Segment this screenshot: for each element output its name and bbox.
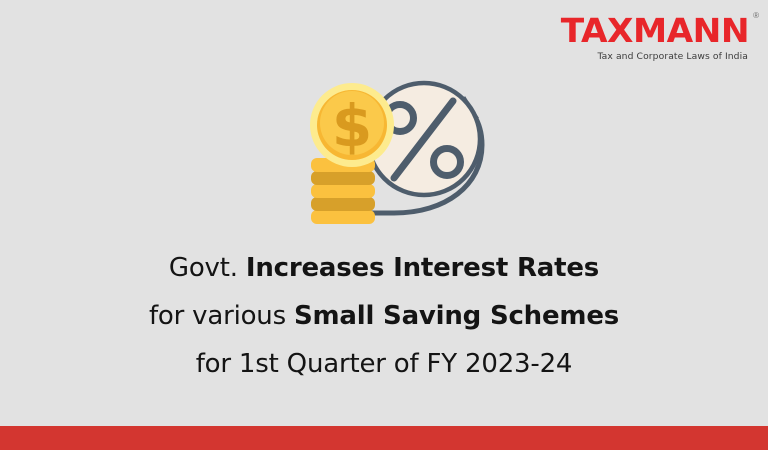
- coin-percent-illustration: $: [286, 66, 506, 231]
- footer-accent-bar: [0, 426, 768, 450]
- headline-line-2-bold: Small Saving Schemes: [294, 301, 619, 331]
- logo-wordmark-wrap: TAXMANN ®: [568, 14, 749, 49]
- headline-line-1-bold: Increases Interest Rates: [246, 253, 599, 283]
- banner-canvas: TAXMANN ® Tax and Corporate Laws of Indi…: [0, 0, 768, 450]
- logo-tagline: Tax and Corporate Laws of India: [568, 52, 748, 61]
- headline-line-2: for various Small Saving Schemes: [0, 292, 768, 340]
- dollar-sign-glyph: $: [332, 92, 372, 160]
- headline-block: Govt. Increases Interest Rates for vario…: [0, 244, 768, 388]
- taxmann-logo: TAXMANN ® Tax and Corporate Laws of Indi…: [568, 14, 748, 61]
- dollar-coin-icon: $: [310, 83, 394, 167]
- headline-line-3-regular: for 1st Quarter of FY 2023-24: [196, 349, 573, 379]
- headline-line-3: for 1st Quarter of FY 2023-24: [0, 340, 768, 388]
- headline-line-2-regular: for various: [149, 301, 294, 331]
- headline-line-1: Govt. Increases Interest Rates: [0, 244, 768, 292]
- coin-stack-icon: [311, 158, 375, 224]
- registered-trademark-icon: ®: [753, 12, 759, 20]
- logo-wordmark: TAXMANN: [561, 14, 749, 49]
- headline-line-1-regular: Govt.: [169, 253, 246, 283]
